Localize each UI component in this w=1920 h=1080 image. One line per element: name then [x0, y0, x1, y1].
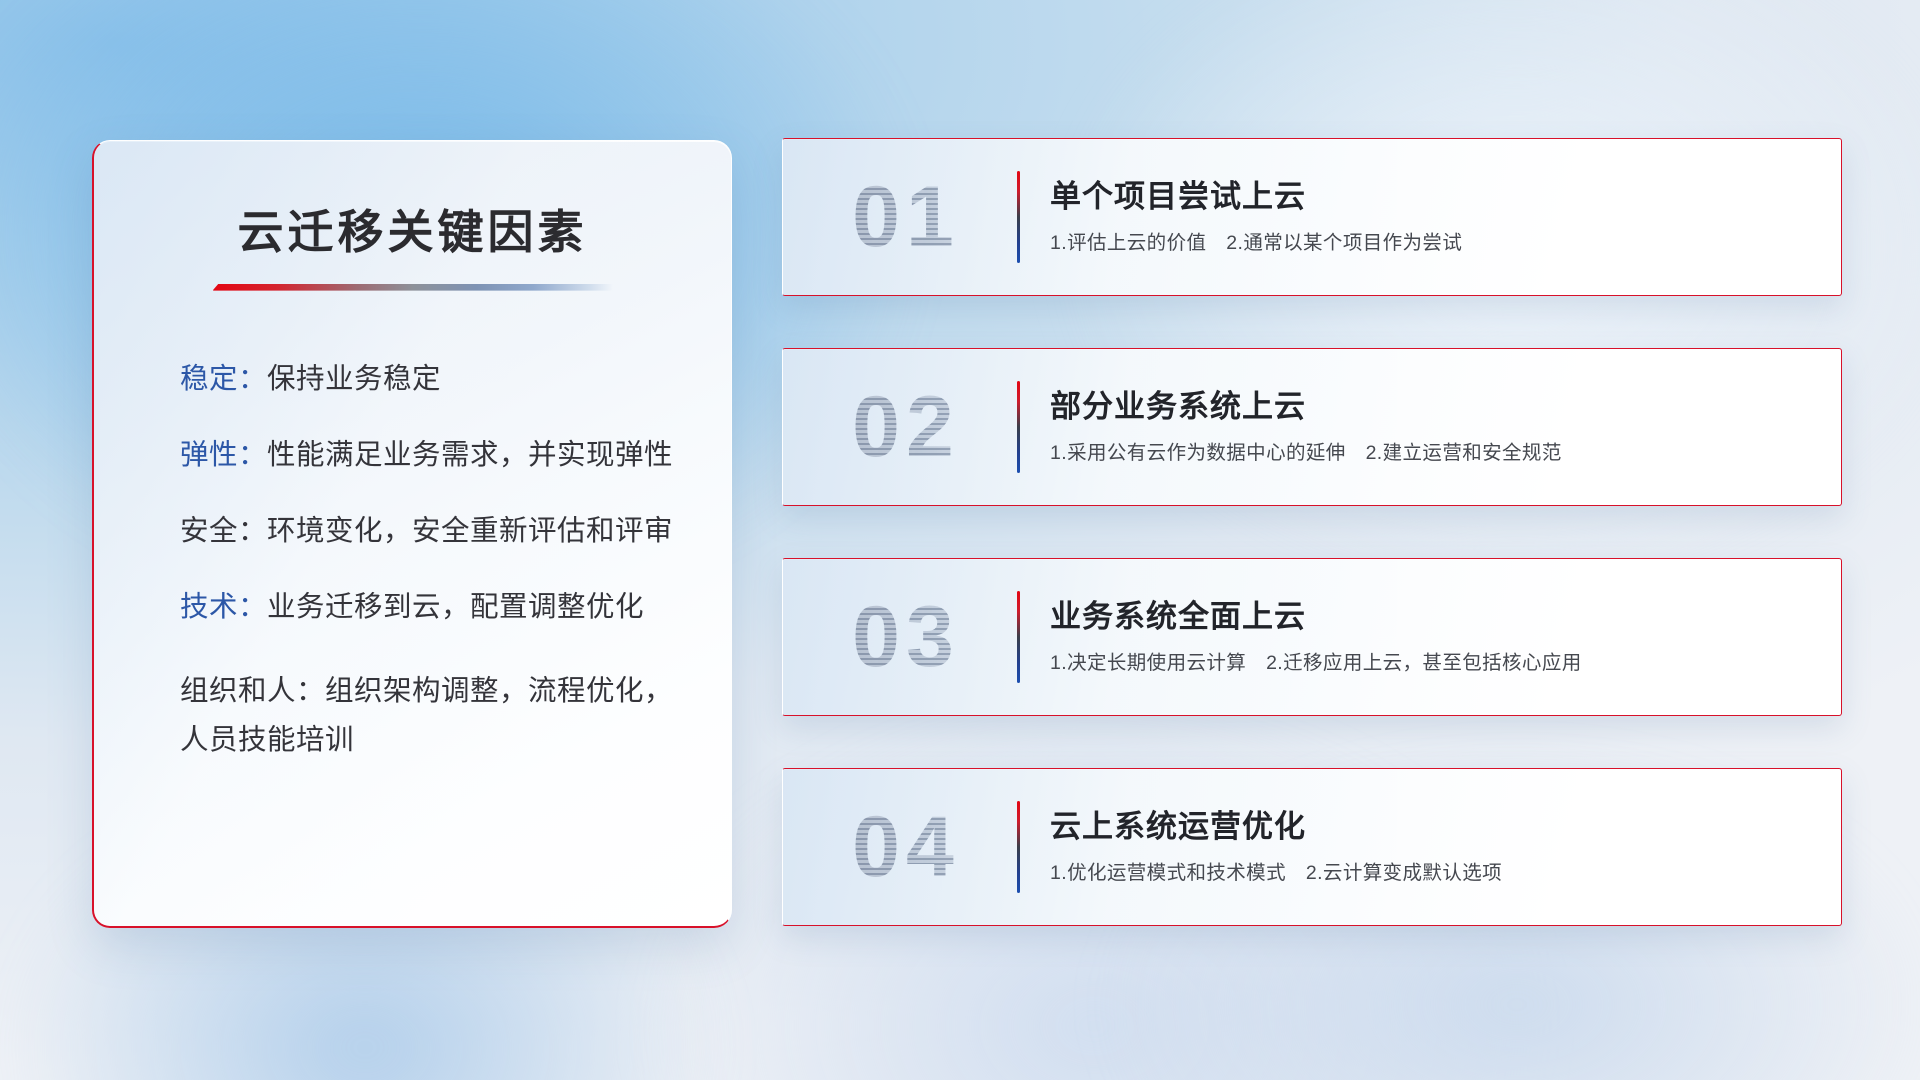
migration-steps-list: 01单个项目尝试上云1.评估上云的价值 2.通常以某个项目作为尝试02部分业务系… — [782, 138, 1842, 926]
key-factor-label: 技术： — [180, 591, 267, 623]
step-number: 04 — [801, 804, 1011, 890]
step-divider-bar — [1017, 801, 1020, 893]
key-factor-row: 安全：环境变化，安全重新评估和评审 — [180, 515, 675, 548]
step-text-block: 业务系统全面上云1.决定长期使用云计算 2.迁移应用上云，甚至包括核心应用 — [1050, 598, 1608, 677]
step-text-block: 单个项目尝试上云1.评估上云的价值 2.通常以某个项目作为尝试 — [1050, 178, 1488, 257]
step-title: 云上系统运营优化 — [1050, 808, 1502, 845]
title-underline-rule — [213, 284, 613, 291]
step-divider-bar — [1017, 381, 1020, 473]
key-factor-label: 弹性： — [180, 439, 267, 471]
key-factor-row: 稳定：保持业务稳定 — [180, 363, 675, 396]
key-factor-row: 技术：业务迁移到云，配置调整优化 — [180, 591, 675, 624]
step-subtitle: 1.采用公有云作为数据中心的延伸 2.建立运营和安全规范 — [1050, 441, 1562, 466]
slide-stage: 云迁移关键因素 稳定：保持业务稳定弹性：性能满足业务需求，并实现弹性安全：环境变… — [0, 0, 1920, 1080]
key-factor-value: 性能满足业务需求，并实现弹性 — [267, 439, 673, 471]
migration-step-card[interactable]: 04云上系统运营优化1.优化运营模式和技术模式 2.云计算变成默认选项 — [782, 768, 1842, 926]
step-number: 02 — [801, 384, 1011, 470]
migration-step-card[interactable]: 03业务系统全面上云1.决定长期使用云计算 2.迁移应用上云，甚至包括核心应用 — [782, 558, 1842, 716]
key-factor-value: 业务迁移到云，配置调整优化 — [267, 591, 644, 623]
step-divider-bar — [1017, 591, 1020, 683]
key-factor-label: 安全： — [180, 515, 267, 547]
step-title: 部分业务系统上云 — [1050, 388, 1562, 425]
step-number: 01 — [801, 174, 1011, 260]
step-text-block: 云上系统运营优化1.优化运营模式和技术模式 2.云计算变成默认选项 — [1050, 808, 1528, 887]
migration-step-card[interactable]: 01单个项目尝试上云1.评估上云的价值 2.通常以某个项目作为尝试 — [782, 138, 1842, 296]
key-factors-list: 稳定：保持业务稳定弹性：性能满足业务需求，并实现弹性安全：环境变化，安全重新评估… — [150, 363, 675, 765]
key-factor-label: 稳定： — [180, 363, 267, 395]
step-subtitle: 1.决定长期使用云计算 2.迁移应用上云，甚至包括核心应用 — [1050, 651, 1582, 676]
key-factor-row: 组织和人：组织架构调整，流程优化，人员技能培训 — [180, 667, 675, 765]
step-text-block: 部分业务系统上云1.采用公有云作为数据中心的延伸 2.建立运营和安全规范 — [1050, 388, 1588, 467]
step-subtitle: 1.评估上云的价值 2.通常以某个项目作为尝试 — [1050, 231, 1462, 256]
migration-step-card[interactable]: 02部分业务系统上云1.采用公有云作为数据中心的延伸 2.建立运营和安全规范 — [782, 348, 1842, 506]
key-factor-value: 保持业务稳定 — [267, 363, 441, 395]
step-title: 业务系统全面上云 — [1050, 598, 1582, 635]
step-divider-bar — [1017, 171, 1020, 263]
page-title: 云迁移关键因素 — [150, 207, 675, 258]
step-subtitle: 1.优化运营模式和技术模式 2.云计算变成默认选项 — [1050, 861, 1502, 886]
step-title: 单个项目尝试上云 — [1050, 178, 1462, 215]
key-factors-panel-content: 云迁移关键因素 稳定：保持业务稳定弹性：性能满足业务需求，并实现弹性安全：环境变… — [94, 141, 731, 765]
step-number: 03 — [801, 594, 1011, 680]
key-factor-label: 组织和人： — [180, 675, 325, 707]
key-factor-value: 环境变化，安全重新评估和评审 — [267, 515, 673, 547]
key-factors-panel: 云迁移关键因素 稳定：保持业务稳定弹性：性能满足业务需求，并实现弹性安全：环境变… — [92, 140, 732, 928]
key-factor-row: 弹性：性能满足业务需求，并实现弹性 — [180, 439, 675, 472]
